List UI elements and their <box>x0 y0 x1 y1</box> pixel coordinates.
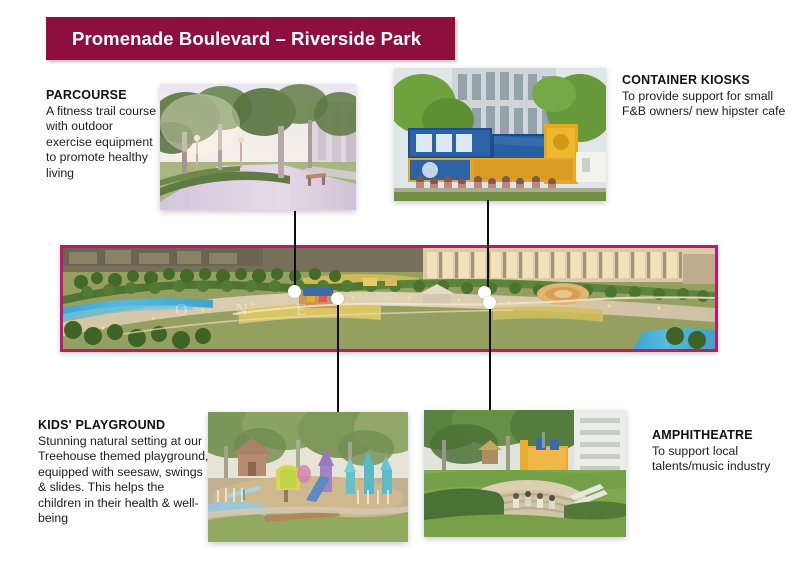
leader-line-kids-playground <box>337 296 339 412</box>
kids-playground-photo <box>208 412 408 542</box>
caption-container-kiosks: CONTAINER KIOSKS To provide support for … <box>622 73 792 120</box>
amphitheatre-illustration <box>424 410 626 537</box>
caption-parcourse-title: PARCOURSE <box>46 88 161 102</box>
page-title: Promenade Boulevard – Riverside Park <box>46 28 421 50</box>
caption-amphitheatre-body: To support local talents/music industry <box>652 444 792 475</box>
leader-dot-kids-playground <box>331 292 344 305</box>
caption-container-kiosks-title: CONTAINER KIOSKS <box>622 73 792 87</box>
container-kiosks-illustration <box>394 68 606 201</box>
page-title-banner: Promenade Boulevard – Riverside Park <box>46 17 455 60</box>
leader-line-parcourse <box>294 211 296 293</box>
caption-parcourse-body: A fitness trail course with outdoor exer… <box>46 104 161 181</box>
amphitheatre-photo <box>424 410 626 537</box>
kids-playground-illustration <box>208 412 408 542</box>
caption-parcourse: PARCOURSE A fitness trail course with ou… <box>46 88 161 181</box>
parcourse-trail-photo <box>160 84 356 210</box>
caption-kids-playground: KIDS' PLAYGROUND Stunning natural settin… <box>38 418 210 526</box>
leader-dot-parcourse <box>288 285 301 298</box>
leader-line-amphitheatre <box>489 296 491 410</box>
masterplan-model-illustration <box>63 248 715 349</box>
container-kiosks-photo <box>394 68 606 201</box>
leader-line-container-kiosks <box>487 200 489 300</box>
parcourse-illustration <box>160 84 356 210</box>
caption-container-kiosks-body: To provide support for small F&B owners/… <box>622 89 792 120</box>
caption-kids-playground-body: Stunning natural setting at our Treehous… <box>38 434 210 526</box>
leader-dot-amphitheatre <box>483 296 496 309</box>
caption-amphitheatre-title: AMPHITHEATRE <box>652 428 792 442</box>
caption-kids-playground-title: KIDS' PLAYGROUND <box>38 418 210 432</box>
riverside-park-masterplan-panorama: O N E <box>60 245 718 352</box>
caption-amphitheatre: AMPHITHEATRE To support local talents/mu… <box>652 428 792 475</box>
